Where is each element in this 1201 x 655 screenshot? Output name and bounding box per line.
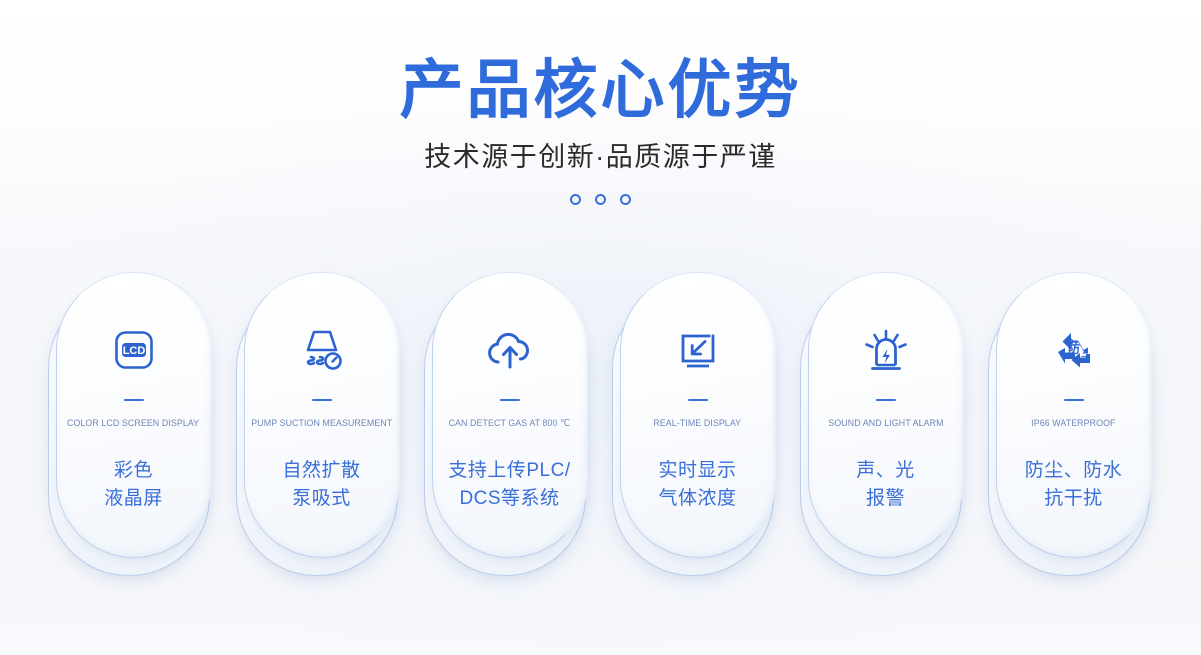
product-advantages-page: 产品核心优势 技术源于创新·品质源于严谨 LCD COLOR: [0, 0, 1201, 655]
card-front-layer[interactable]: PUMP SUCTION MEASUREMENT 自然扩散 泵吸式: [244, 272, 400, 558]
decorative-dots: [0, 174, 1201, 205]
card-cn-label: 防尘、防水 抗干扰: [1025, 457, 1123, 512]
alarm-siren-icon: [857, 323, 915, 377]
feature-card-lcd[interactable]: LCD COLOR LCD SCREEN DISPLAY 彩色 液晶屏: [48, 272, 214, 577]
card-en-label: REAL-TIME DISPLAY: [654, 419, 742, 429]
card-en-label: CAN DETECT GAS AT 800 ℃: [449, 419, 571, 429]
svg-text:LCD: LCD: [122, 345, 145, 357]
card-front-layer[interactable]: REAL-TIME DISPLAY 实时显示 气体浓度: [620, 272, 776, 558]
card-divider: [312, 399, 332, 401]
card-divider: [688, 399, 708, 401]
card-en-label: SOUND AND LIGHT ALARM: [828, 419, 943, 429]
card-front-layer[interactable]: 防 IP66 WATERPROOF 防尘、防水 抗干扰: [996, 272, 1152, 558]
card-cn-label: 支持上传PLC/ DCS等系统: [448, 457, 570, 512]
dot-3: [620, 194, 631, 205]
feature-card-realtime-display[interactable]: REAL-TIME DISPLAY 实时显示 气体浓度: [612, 272, 778, 577]
dot-2: [595, 194, 606, 205]
feature-card-pump-suction[interactable]: PUMP SUCTION MEASUREMENT 自然扩散 泵吸式: [236, 272, 402, 577]
card-en-label: IP66 WATERPROOF: [1031, 419, 1115, 429]
card-front-layer[interactable]: SOUND AND LIGHT ALARM 声、光 报警: [808, 272, 964, 558]
cloud-upload-icon: [482, 323, 538, 377]
card-en-label: COLOR LCD SCREEN DISPLAY: [67, 419, 199, 429]
card-front-layer[interactable]: CAN DETECT GAS AT 800 ℃ 支持上传PLC/ DCS等系统: [432, 272, 588, 558]
card-cn-label: 实时显示 气体浓度: [658, 457, 736, 512]
page-title: 产品核心优势: [0, 0, 1201, 125]
monitor-display-icon: [669, 323, 727, 377]
lcd-screen-icon: LCD: [108, 323, 160, 377]
feature-card-cloud-upload[interactable]: CAN DETECT GAS AT 800 ℃ 支持上传PLC/ DCS等系统: [424, 272, 590, 577]
feature-card-alarm[interactable]: SOUND AND LIGHT ALARM 声、光 报警: [800, 272, 966, 577]
card-cn-label: 自然扩散 泵吸式: [282, 457, 360, 512]
feature-card-waterproof[interactable]: 防 IP66 WATERPROOF 防尘、防水 抗干扰: [988, 272, 1154, 577]
card-divider: [500, 399, 520, 401]
page-header: 产品核心优势 技术源于创新·品质源于严谨: [0, 0, 1201, 205]
pump-suction-icon: [294, 323, 350, 377]
waterproof-icon-text: 防: [1067, 341, 1079, 356]
card-divider: [1064, 399, 1084, 401]
waterproof-recycle-icon: 防: [1045, 323, 1103, 377]
page-subtitle: 技术源于创新·品质源于严谨: [0, 125, 1201, 173]
card-divider: [124, 399, 144, 401]
feature-card-row: LCD COLOR LCD SCREEN DISPLAY 彩色 液晶屏: [0, 272, 1201, 577]
dot-1: [570, 194, 581, 205]
card-cn-label: 彩色 液晶屏: [104, 457, 163, 512]
card-divider: [876, 399, 896, 401]
card-cn-label: 声、光 报警: [856, 457, 915, 512]
card-en-label: PUMP SUCTION MEASUREMENT: [251, 419, 392, 429]
card-front-layer[interactable]: LCD COLOR LCD SCREEN DISPLAY 彩色 液晶屏: [56, 272, 212, 558]
